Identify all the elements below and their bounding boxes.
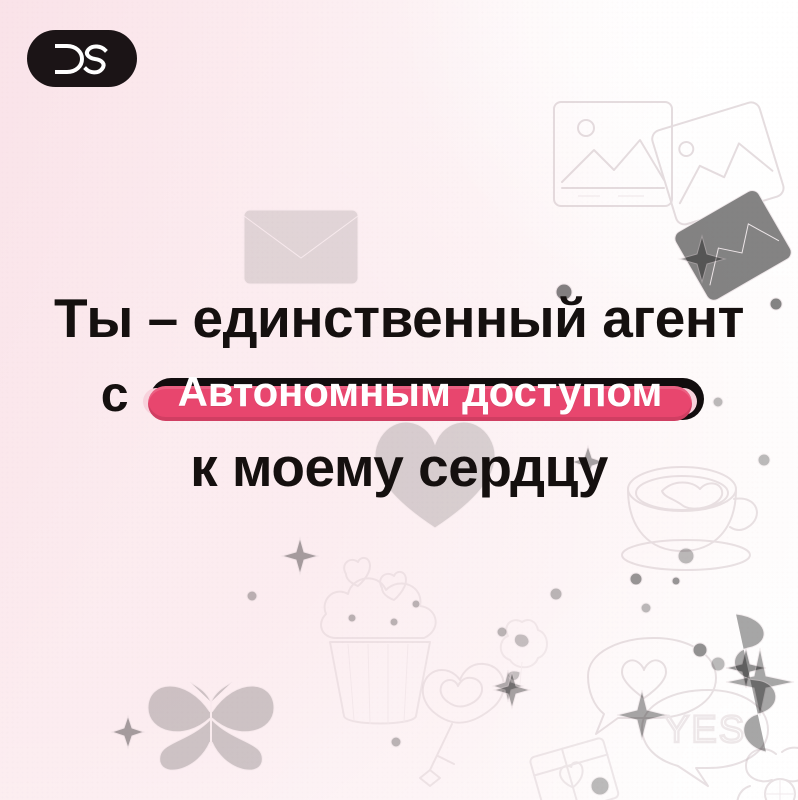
ds-monogram-logo[interactable] bbox=[27, 30, 137, 87]
headline-line-1: Ты – единственный агент bbox=[0, 283, 798, 353]
highlight-pill-fill: Автономным доступом bbox=[148, 386, 693, 421]
highlight-pill-border: Автономным доступом bbox=[143, 388, 698, 415]
headline-line-3: к моему сердцу bbox=[0, 432, 798, 502]
headline-line-2: с Автономным доступом bbox=[0, 361, 798, 423]
ds-monogram-icon bbox=[53, 43, 111, 75]
headline-block: Ты – единственный агент с Автономным дос… bbox=[0, 283, 798, 502]
headline-line-2-prefix: с bbox=[101, 369, 129, 419]
social-post-card: YES bbox=[0, 0, 798, 800]
highlight-pill[interactable]: Автономным доступом bbox=[143, 371, 698, 414]
highlight-pill-label: Автономным доступом bbox=[178, 368, 663, 415]
